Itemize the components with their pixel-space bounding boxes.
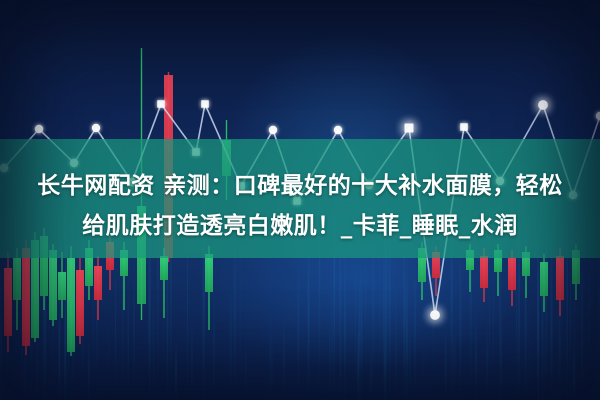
headline-line-2: 给肌肤打造透亮白嫩肌！_卡菲_睡眠_水润 — [0, 206, 600, 246]
headline-text: 长牛网配资 亲测：口碑最好的十大补水面膜，轻松 给肌肤打造透亮白嫩肌！_卡菲_睡… — [0, 166, 600, 246]
banner-image: 长牛网配资 亲测：口碑最好的十大补水面膜，轻松 给肌肤打造透亮白嫩肌！_卡菲_睡… — [0, 0, 600, 400]
headline-line-1: 长牛网配资 亲测：口碑最好的十大补水面膜，轻松 — [0, 166, 600, 206]
